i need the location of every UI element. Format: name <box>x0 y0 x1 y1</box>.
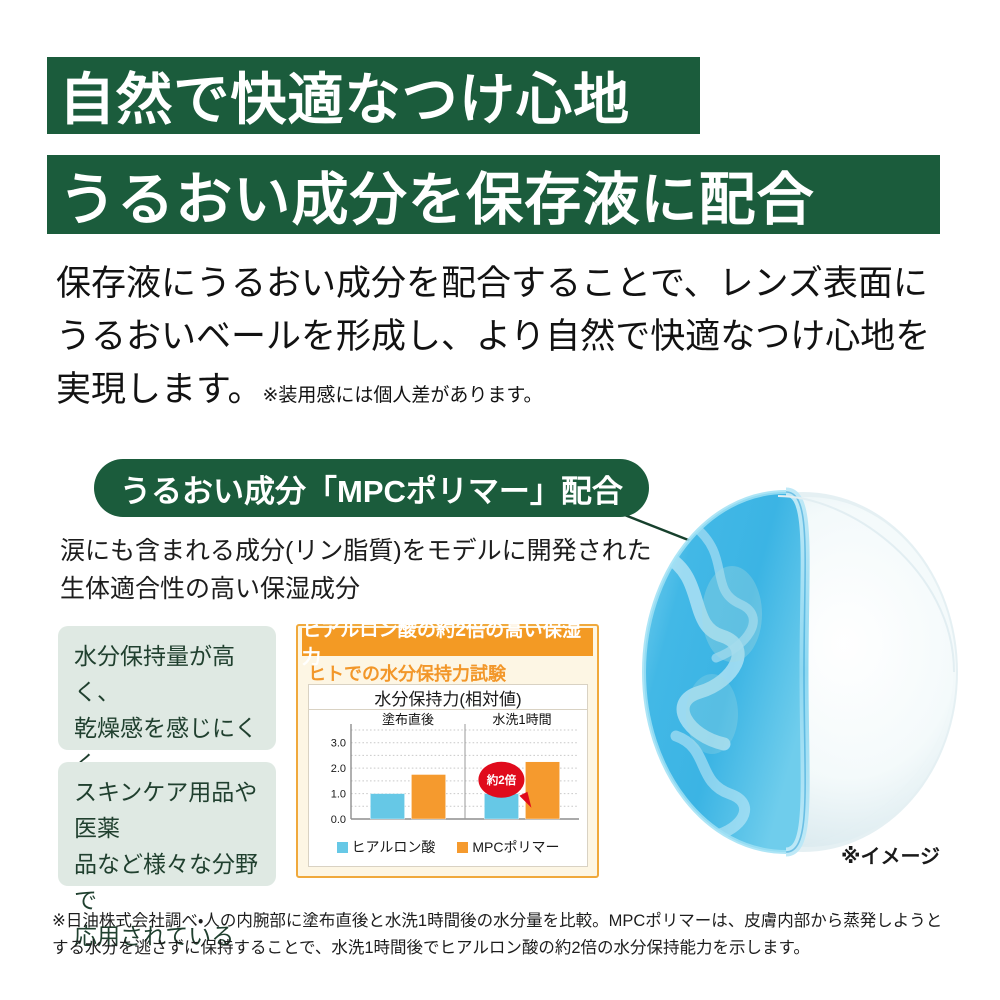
legend-item-mpc: MPCポリマー <box>457 837 559 857</box>
chart-category-label: 塗布直後 <box>382 712 434 727</box>
legend-swatch-mpc <box>457 842 468 853</box>
moisture-test-panel-subtitle: ヒトでの水分保持力試験 <box>308 660 506 686</box>
chart-bar <box>525 762 559 819</box>
lead-disclaimer: ※装用感には個人差があります。 <box>263 385 543 406</box>
chart-y-tick-label: 2.0 <box>331 763 346 775</box>
svg-text:約2倍: 約2倍 <box>486 773 517 787</box>
feature-1-line-1: 水分保持量が高く、 <box>74 638 260 710</box>
mpc-desc-line-2: 生体適合性の高い保湿成分 <box>60 570 660 608</box>
mpc-polymer-callout-pill: うるおい成分「MPCポリマー」配合 <box>94 459 649 517</box>
feature-2-line-1: スキンケア用品や医薬 <box>74 774 260 846</box>
contact-lens-illustration <box>636 486 966 858</box>
feature-box-applications: スキンケア用品や医薬 品など様々な分野で 応用されている <box>58 762 276 886</box>
headline-bar-primary: 自然で快適なつけ心地 <box>47 57 700 134</box>
lead-line-3-row: 実現します。※装用感には個人差があります。 <box>56 363 936 422</box>
lens-blue-shell <box>644 492 805 852</box>
footnote-line-1: ※日油株式会社調べ・人の内腕部に塗布直後と水洗1時間後の水分量を比較。MPCポリ… <box>52 908 952 935</box>
chart-category-label: 水洗1時間 <box>492 712 551 727</box>
lead-line-3: 実現します。 <box>56 370 263 409</box>
lead-line-2: うるおいベールを形成し、より自然で快適なつけ心地を <box>56 310 936 363</box>
product-feature-page: 自然で快適なつけ心地 うるおい成分を保存液に配合 保存液にうるおい成分を配合する… <box>0 0 1000 1000</box>
headline-text-2: うるおい成分を保存液に配合 <box>59 154 815 236</box>
chart-bar <box>370 794 404 819</box>
legend-label-mpc: MPCポリマー <box>472 839 559 855</box>
legend-swatch-hyaluronic <box>337 842 348 853</box>
chart-y-tick-label: 1.0 <box>331 789 346 801</box>
moisture-test-panel-title: ヒアルロン酸の約2倍の高い保湿力 <box>302 628 593 656</box>
chart-plot-area: 0.01.02.03.0塗布直後水洗1時間約2倍 <box>309 710 587 835</box>
mpc-desc-line-1: 涙にも含まれる成分(リン脂質)をモデルに開発された <box>60 532 660 570</box>
footnote: ※日油株式会社調べ・人の内腕部に塗布直後と水洗1時間後の水分量を比較。MPCポリ… <box>52 908 952 962</box>
chart-svg: 0.01.02.03.0塗布直後水洗1時間約2倍 <box>309 710 587 835</box>
chart-y-tick-label: 0.0 <box>331 814 346 826</box>
lead-paragraph: 保存液にうるおい成分を配合することで、レンズ表面に うるおいベールを形成し、より… <box>56 257 936 422</box>
mpc-polymer-description: 涙にも含まれる成分(リン脂質)をモデルに開発された 生体適合性の高い保湿成分 <box>60 532 660 608</box>
chart-legend: ヒアルロン酸 MPCポリマー <box>309 837 587 857</box>
mpc-polymer-callout-label: うるおい成分「MPCポリマー」配合 <box>120 466 623 511</box>
feature-box-moisture-retention: 水分保持量が高く、 乾燥感を感じにくく する <box>58 626 276 750</box>
moisture-retention-chart: 水分保持力(相対値) 0.01.02.03.0塗布直後水洗1時間約2倍 ヒアルロ… <box>308 684 588 867</box>
lead-line-1: 保存液にうるおい成分を配合することで、レンズ表面に <box>56 257 936 310</box>
legend-label-hyaluronic: ヒアルロン酸 <box>352 839 436 855</box>
chart-title: 水分保持力(相対値) <box>309 685 587 710</box>
headline-text-1: 自然で快適なつけ心地 <box>59 55 630 136</box>
chart-y-tick-label: 3.0 <box>331 738 346 750</box>
lens-image-note: ※イメージ <box>841 840 940 869</box>
chart-bar <box>411 775 445 820</box>
footnote-line-2: する水分を逃さずに保持することで、水洗1時間後でヒアルロン酸の約2倍の水分保持能… <box>52 935 952 962</box>
headline-bar-secondary: うるおい成分を保存液に配合 <box>47 155 940 234</box>
legend-item-hyaluronic: ヒアルロン酸 <box>337 837 436 857</box>
